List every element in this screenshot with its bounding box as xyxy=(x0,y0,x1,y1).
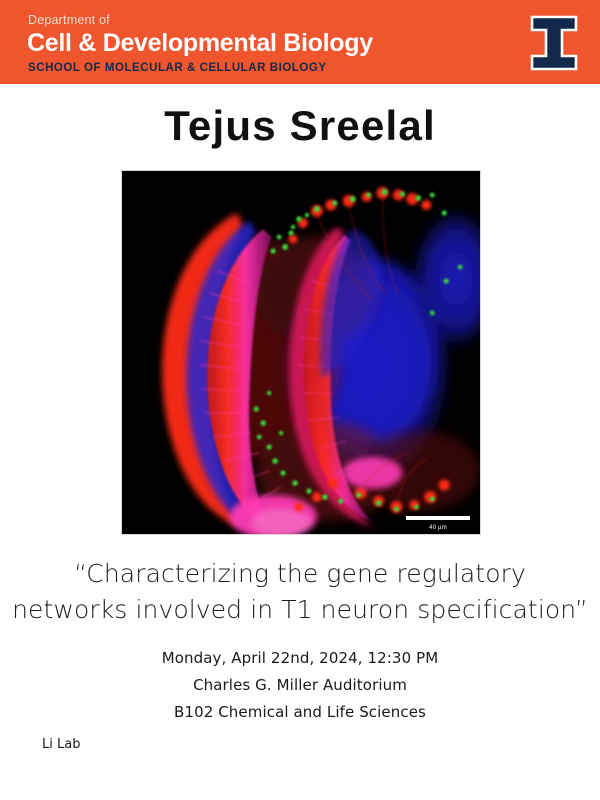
school-name: SCHOOL OF MOLECULAR & CELLULAR BIOLOGY xyxy=(28,61,327,75)
talk-title: “Characterizing the gene regulatory netw… xyxy=(12,556,588,628)
lab-credit: Li Lab xyxy=(42,737,80,752)
talk-title-line-1: “Characterizing the gene regulatory xyxy=(12,556,588,592)
scale-bar xyxy=(406,516,470,520)
microscopy-figure: 40 µm xyxy=(121,170,481,535)
confocal-image xyxy=(122,171,480,534)
department-name: Cell & Developmental Biology xyxy=(27,29,373,58)
department-of-label: Department of xyxy=(28,12,110,28)
scale-bar-label: 40 µm xyxy=(406,525,470,531)
event-building: B102 Chemical and Life Sciences xyxy=(0,699,600,726)
event-venue: Charles G. Miller Auditorium xyxy=(0,672,600,699)
speaker-name: Tejus Sreelal xyxy=(0,100,600,152)
talk-title-line-2: networks involved in T1 neuron specifica… xyxy=(12,592,588,628)
event-datetime: Monday, April 22nd, 2024, 12:30 PM xyxy=(0,645,600,672)
department-header-banner: Department of Cell & Developmental Biolo… xyxy=(0,0,600,84)
illinois-block-i-logo xyxy=(527,14,581,72)
event-details: Monday, April 22nd, 2024, 12:30 PM Charl… xyxy=(0,645,600,726)
